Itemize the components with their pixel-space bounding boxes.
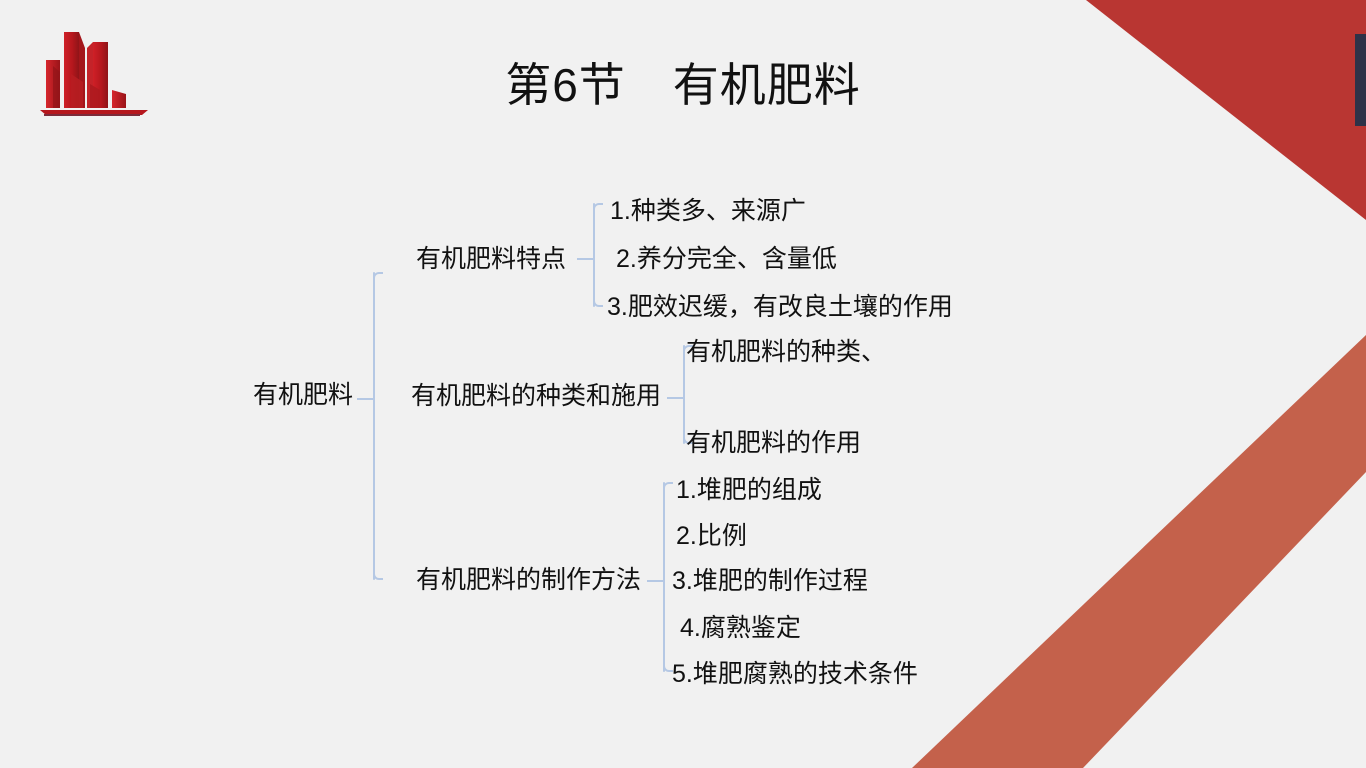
mindmap-branch-1-label: 有机肥料特点 <box>416 243 566 275</box>
mindmap-branch-2-label: 有机肥料的种类和施用 <box>411 380 661 412</box>
root-bracket-connector <box>365 272 385 580</box>
page-title: 第6节 有机肥料 <box>0 56 1366 114</box>
mindmap-root-node: 有机肥料 <box>253 379 353 411</box>
mindmap-branch-3-child-5: 5.堆肥腐熟的技术条件 <box>672 658 918 690</box>
mindmap-branch-3-label: 有机肥料的制作方法 <box>416 564 641 596</box>
mindmap-branch-3-child-3: 3.堆肥的制作过程 <box>672 565 868 597</box>
mindmap-branch-1-child-2: 2.养分完全、含量低 <box>616 243 837 275</box>
mindmap-branch-1-child-3: 3.肥效迟缓，有改良土壤的作用 <box>607 291 953 323</box>
mindmap-branch-1-child-1: 1.种类多、来源广 <box>610 195 806 227</box>
mindmap-branch-3-child-1: 1.堆肥的组成 <box>676 474 822 506</box>
slide-canvas: 第6节 有机肥料 有机肥料 有机肥料特点 1.种类多、来源广 2.养分完全、含量… <box>0 0 1366 768</box>
mindmap-branch-2-child-2: 有机肥料的作用 <box>686 427 861 459</box>
mindmap-branch-3-child-4: 4.腐熟鉴定 <box>680 612 801 644</box>
mindmap-branch-3-child-2: 2.比例 <box>676 520 747 552</box>
mindmap-branch-2-child-1: 有机肥料的种类、 <box>686 336 886 368</box>
branch-1-bracket-connector <box>585 203 605 307</box>
